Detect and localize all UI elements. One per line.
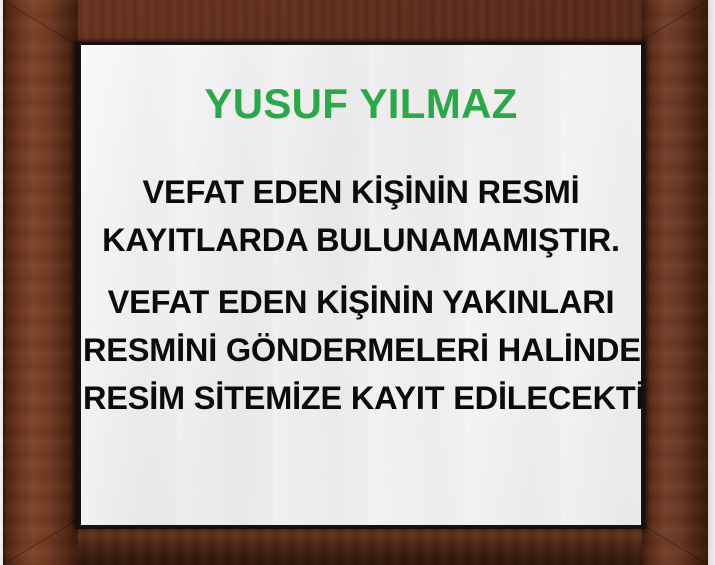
notice-1-line-1: VEFAT EDEN KİŞİNİN RESMİ xyxy=(83,168,639,216)
notice-1-line-2: KAYITLARDA BULUNAMAMIŞTIR. xyxy=(83,216,639,264)
wooden-frame: YUSUF YILMAZ VEFAT EDEN KİŞİNİN RESMİ KA… xyxy=(3,0,708,565)
memorial-notice-card: YUSUF YILMAZ VEFAT EDEN KİŞİNİN RESMİ KA… xyxy=(81,45,641,525)
frame-rail-top xyxy=(3,0,708,46)
notice-2-line-3: RESİM SİTEMİZE KAYIT EDİLECEKTİR. xyxy=(83,374,639,422)
notice-2-line-1: VEFAT EDEN KİŞİNİN YAKINLARI xyxy=(83,278,639,326)
frame-rail-bottom xyxy=(3,523,708,565)
notice-paragraph-2: VEFAT EDEN KİŞİNİN YAKINLARI RESMİNİ GÖN… xyxy=(83,278,639,422)
page-edge-right xyxy=(708,0,715,565)
notice-paragraph-1: VEFAT EDEN KİŞİNİN RESMİ KAYITLARDA BULU… xyxy=(83,168,639,264)
page-edge-left xyxy=(0,0,3,565)
photo-mat: YUSUF YILMAZ VEFAT EDEN KİŞİNİN RESMİ KA… xyxy=(81,45,641,525)
frame-rail-right xyxy=(642,0,708,565)
notice-2-line-2: RESMİNİ GÖNDERMELERİ HALİNDE xyxy=(83,326,639,374)
deceased-name: YUSUF YILMAZ xyxy=(81,83,641,125)
memorial-photo-frame: YUSUF YILMAZ VEFAT EDEN KİŞİNİN RESMİ KA… xyxy=(0,0,715,565)
frame-rail-left xyxy=(3,0,78,565)
